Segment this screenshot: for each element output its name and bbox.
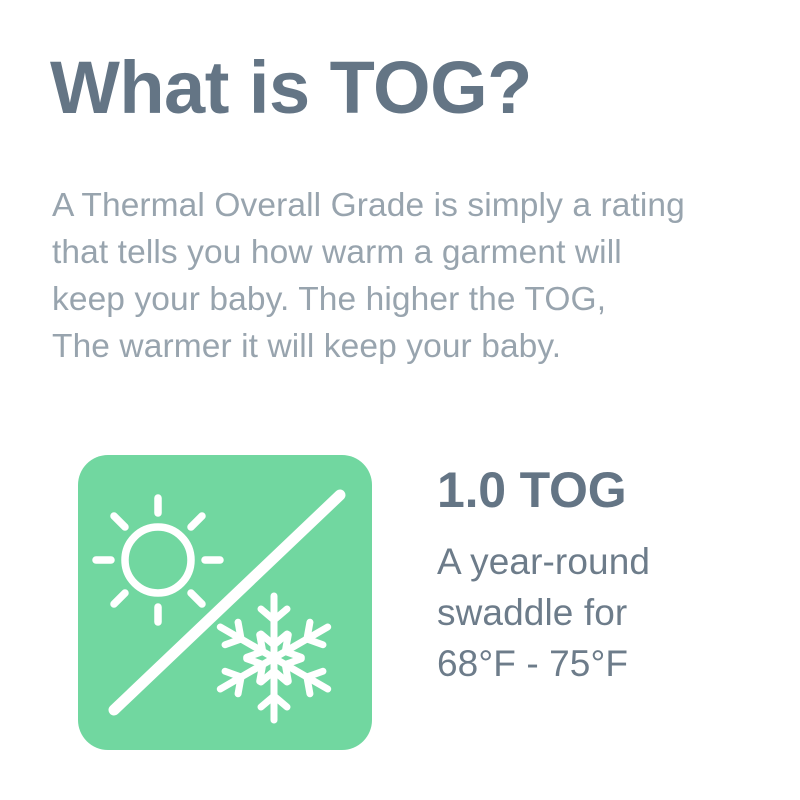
rating-desc-line-1: A year-round — [437, 536, 767, 587]
sun-icon — [96, 498, 220, 622]
tog-rating-info: 1.0 TOG A year-round swaddle for 68°F - … — [437, 462, 767, 689]
tog-info-card: What is TOG? A Thermal Overall Grade is … — [0, 0, 800, 800]
tog-icon-tile — [78, 455, 372, 750]
intro-line-3: keep your baby. The higher the TOG, — [52, 276, 752, 323]
rating-desc-line-2: swaddle for — [437, 587, 767, 638]
intro-line-2: that tells you how warm a garment will — [52, 229, 752, 276]
intro-paragraph: A Thermal Overall Grade is simply a rati… — [52, 182, 752, 370]
intro-line-4: The warmer it will keep your baby. — [52, 323, 752, 370]
tog-rating-value: 1.0 TOG — [437, 462, 767, 518]
intro-line-1: A Thermal Overall Grade is simply a rati… — [52, 182, 752, 229]
page-title: What is TOG? — [50, 48, 532, 128]
tog-rating-row: 1.0 TOG A year-round swaddle for 68°F - … — [0, 455, 800, 755]
tog-rating-description: A year-round swaddle for 68°F - 75°F — [437, 536, 767, 689]
sun-snowflake-icon — [78, 455, 372, 750]
snowflake-icon — [214, 596, 334, 720]
rating-temperature-range: 68°F - 75°F — [437, 638, 767, 689]
